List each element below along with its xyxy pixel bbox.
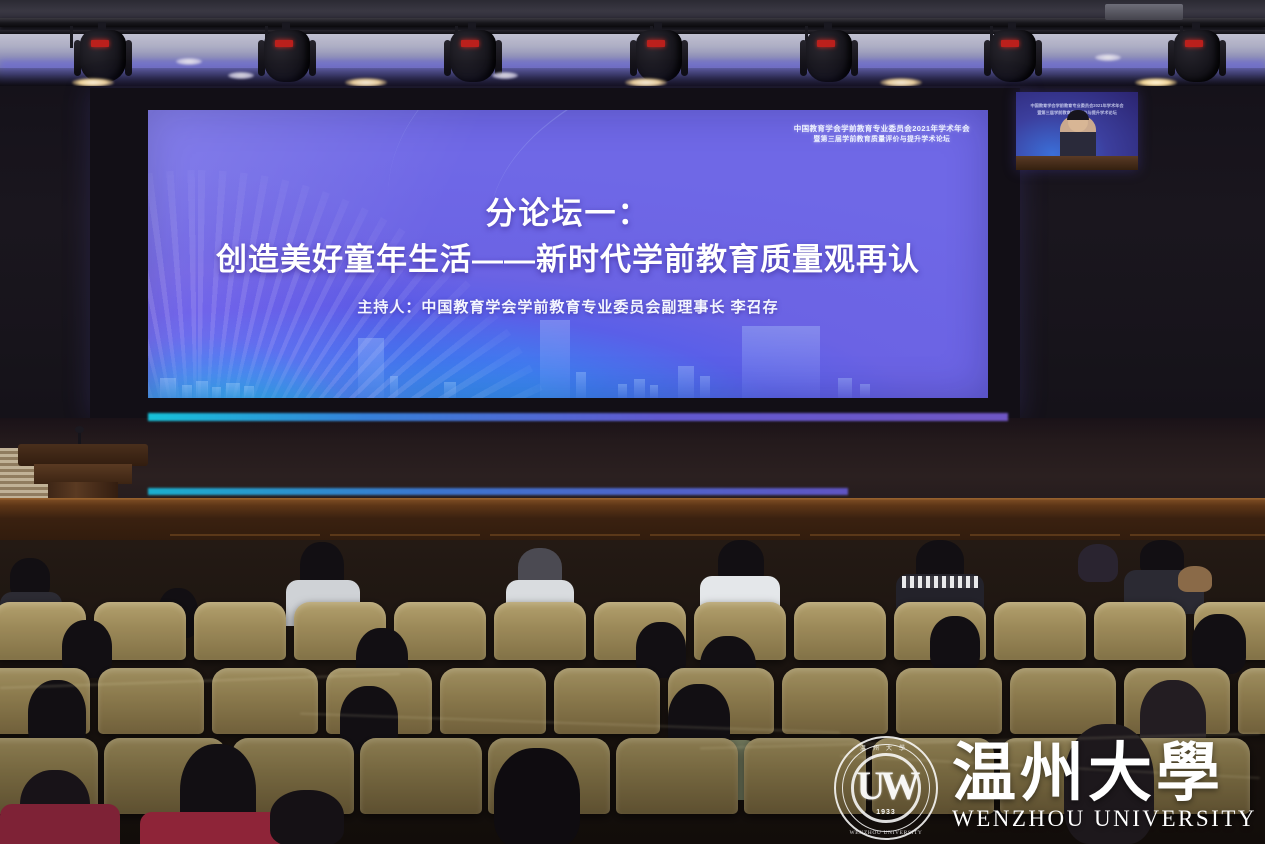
projection-screen: 中国教育学会学前教育专业委员会2021年学术年会 暨第三届学前教育质量评价与提升… [148,110,988,398]
recessed-ceiling-light [492,72,518,79]
auditorium-seat [394,602,486,660]
auditorium-seat [360,738,482,814]
auditorium-seat [782,668,888,734]
attendee-scarf [902,576,978,588]
auditorium-seat [1238,668,1265,734]
conference-hall-photo: 中国教育学会学前教育专业委员会2021年学术年会 暨第三届学前教育质量评价与提升… [0,0,1265,844]
attendee-hat [1178,566,1212,592]
auditorium-seat [194,602,286,660]
auditorium-seat [212,668,318,734]
stage-spotlight [630,22,688,86]
secondary-display: 中国教育学会学前教育专业委员会2021年学术年会 暨第三届学前教育质量评价与提升… [1016,92,1138,170]
attendee-torso [0,804,120,844]
auditorium-seat [98,668,204,734]
stage-spotlight [1168,22,1226,86]
attendee-head [1064,724,1154,844]
stage-spotlight [800,22,858,86]
auditorium-seat [440,668,546,734]
stage-spotlight [258,22,316,86]
slide-host-line: 主持人：中国教育学会学前教育专业委员会副理事长 李召存 [148,296,988,317]
recessed-ceiling-light [228,72,254,79]
stage-spotlight [984,22,1042,86]
stage-led-strip [148,413,1008,421]
auditorium-seat [744,738,866,814]
auditorium-seat [1094,602,1186,660]
slide-title-line2: 创造美好童年生活——新时代学前教育质量观再认 [148,234,988,279]
stage-spotlight [74,22,132,86]
slide-title-line1: 分论坛一： [148,188,988,233]
truss-control-box [1105,4,1183,20]
attendee-head [494,748,580,844]
slide-header-line1: 中国教育学会学前教育专业委员会2021年学术年会 [794,124,970,135]
auditorium-seat [494,602,586,660]
auditorium-seat [896,668,1002,734]
stage-led-strip-lower [148,488,848,495]
auditorium-seat [994,602,1086,660]
auditorium-seat [872,738,994,814]
attendee-head [270,790,344,844]
attendee-head [1192,614,1246,674]
slide-header-line2: 暨第三届学前教育质量评价与提升学术论坛 [794,135,970,145]
auditorium-seat [554,668,660,734]
attendee-head [1078,544,1118,582]
recessed-ceiling-light [176,58,202,65]
auditorium-seat [616,738,738,814]
slide-header: 中国教育学会学前教育专业委员会2021年学术年会 暨第三届学前教育质量评价与提升… [794,124,970,145]
audience-seating [0,540,1265,844]
secondary-display-header-line1: 中国教育学会学前教育专业委员会2021年学术年会 [1024,102,1130,109]
attendee-head [930,616,980,672]
auditorium-seat [794,602,886,660]
speaker-podium [1016,156,1138,170]
truss-hanger [70,26,73,48]
recessed-ceiling-light [1095,54,1121,61]
